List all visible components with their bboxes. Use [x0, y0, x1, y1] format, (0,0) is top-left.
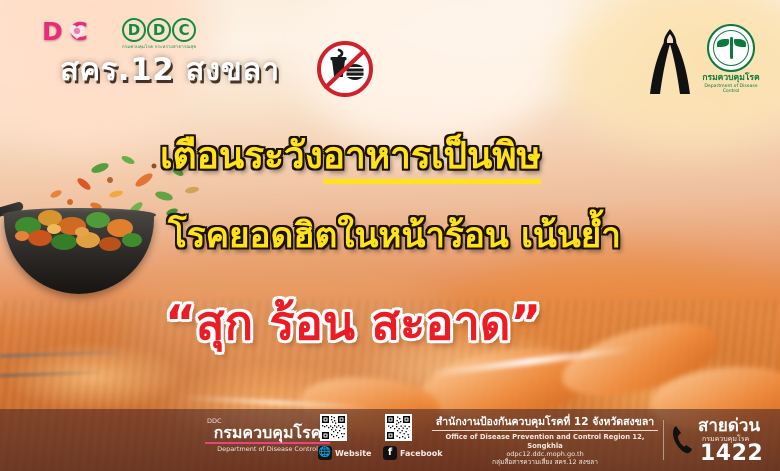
black-mourning-ribbon-icon	[647, 26, 693, 98]
food-poisoning-warning-poster: สคร.12 สงขลา	[0, 0, 780, 471]
website-label: Website	[335, 449, 371, 458]
ddc-seal-english-name: Department of Disease Control	[700, 84, 762, 94]
ddc-circles-logo: D D C กรมควบคุมโรค กระทรวงสาธารณสุข	[122, 18, 202, 48]
hotline-number: 1422	[700, 443, 763, 465]
ddc-seal-thai-name: กรมควบคุมโรค	[700, 74, 762, 83]
headline-slogan: “สุก ร้อน สะอาด”	[165, 285, 541, 360]
ddc-circle-letter: D	[147, 18, 171, 42]
ddc-circle-letter: D	[122, 18, 146, 42]
office-info-block: สำนักงานป้องกันควบคุมโรคที่ 12 จังหวัดสง…	[432, 416, 658, 466]
office-thai-name: สำนักงานป้องกันควบคุมโรคที่ 12 จังหวัดสง…	[432, 416, 658, 431]
stir-fry-food-heap	[6, 196, 156, 256]
ddc-seal-logo: กรมควบคุมโรค Department of Disease Contr…	[700, 24, 762, 100]
office-url[interactable]: odpc12.ddc.moph.go.th	[432, 450, 658, 458]
office-english-name: Office of Disease Prevention and Control…	[432, 433, 658, 450]
headline-line-1-plain: เตือนระวัง	[160, 134, 323, 177]
website-link[interactable]: 🌐 Website	[318, 446, 371, 460]
office-group: กลุ่มสื่อสารความเสี่ยง สคร.12 สงขลา	[432, 458, 658, 466]
globe-icon: 🌐	[318, 446, 332, 460]
ddc-circle-letter: C	[172, 18, 196, 42]
ddc-brand-thai: กรมควบคุมโรค	[205, 425, 330, 445]
ddc-seal-icon	[707, 24, 755, 72]
hotline-title: สายด่วน	[698, 418, 760, 435]
hotline-block: สายด่วน กรมควบคุมโรค 1422	[672, 416, 776, 466]
headline-line-2: โรคยอดฮิตในหน้าร้อน เน้นย้ำ	[168, 208, 621, 263]
qr-code-website[interactable]	[320, 414, 347, 441]
ddc-brand-block: DDC กรมควบคุมโรค Department of Disease C…	[205, 418, 330, 453]
doc-pink-logo: D C	[42, 16, 118, 46]
facebook-icon: f	[383, 446, 397, 460]
phone-icon	[672, 424, 694, 454]
footer-divider	[663, 420, 664, 460]
heart-icon	[67, 21, 87, 41]
headline-line-1-underlined: อาหารเป็นพิษ	[323, 134, 541, 184]
qr-code-facebook[interactable]	[385, 414, 412, 441]
organization-label: สคร.12 สงขลา	[60, 44, 280, 94]
headline-line-1: เตือนระวังอาหารเป็นพิษ	[160, 126, 541, 185]
no-food-drink-icon	[316, 40, 374, 98]
ddc-circles-subtitle: กรมควบคุมโรค กระทรวงสาธารณสุข	[122, 43, 202, 50]
ddc-brand-english: Department of Disease Control	[205, 446, 330, 453]
